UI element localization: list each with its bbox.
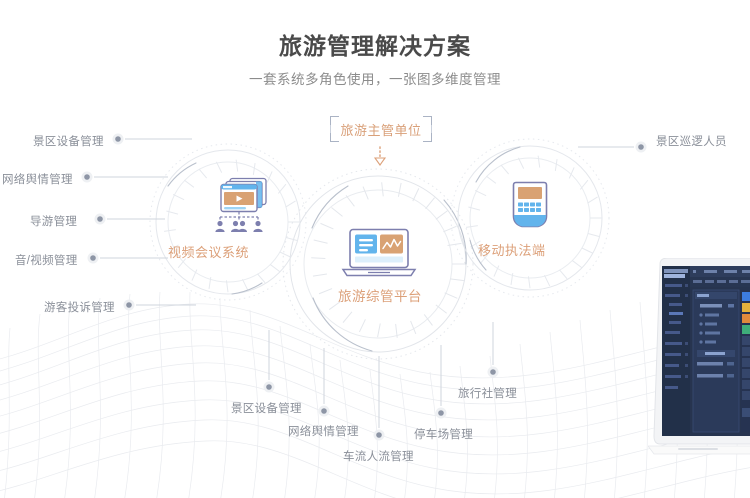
- dashboard-laptop-mockup: [648, 258, 750, 473]
- dotted-down-arrow-icon: [375, 147, 385, 165]
- bottom_labels-label[interactable]: 旅行社管理: [458, 385, 517, 401]
- laptop-dashboard-icon[interactable]: [341, 228, 417, 285]
- left_labels-label[interactable]: 网络舆情管理: [2, 171, 73, 187]
- authority-box[interactable]: 旅游主管单位: [330, 116, 432, 142]
- authority-label: 旅游主管单位: [330, 116, 432, 142]
- video-window-people-icon[interactable]: [212, 176, 274, 239]
- node-label-video-conference: 视频会议系统: [168, 242, 249, 261]
- left_labels-label[interactable]: 景区设备管理: [33, 133, 104, 149]
- handheld-terminal-icon[interactable]: [510, 180, 550, 237]
- left_labels-label[interactable]: 游客投诉管理: [44, 299, 115, 315]
- node-label-tourism-platform: 旅游综管平台: [338, 285, 422, 305]
- left_labels-label[interactable]: 音/视频管理: [15, 252, 78, 268]
- solution-diagram-page: 旅游管理解决方案 一套系统多角色使用，一张图多维度管理: [0, 0, 750, 498]
- bottom_labels-label[interactable]: 停车场管理: [414, 426, 473, 442]
- bottom_labels-label[interactable]: 网络舆情管理: [288, 423, 359, 439]
- bottom_labels-label[interactable]: 车流人流管理: [343, 448, 414, 464]
- left_labels-label[interactable]: 导游管理: [30, 213, 77, 229]
- bottom_labels-label[interactable]: 景区设备管理: [231, 400, 302, 416]
- right_labels-label[interactable]: 景区巡逻人员: [656, 133, 727, 149]
- right-connector-dots: [636, 142, 647, 153]
- left-connectors: [94, 139, 196, 305]
- node-label-mobile-enforcement: 移动执法端: [478, 240, 546, 259]
- left-connector-dots: [82, 134, 135, 311]
